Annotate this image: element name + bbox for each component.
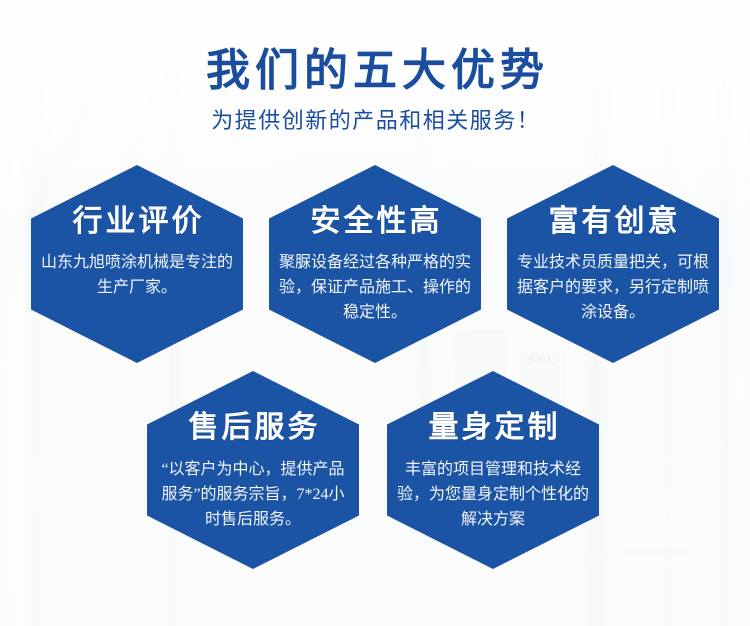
page-title: 我们的五大优势 <box>0 44 750 98</box>
advantage-description: “以客户为中心，提供产品服务”的服务宗旨，7*24小时售后服务。 <box>156 447 350 532</box>
advantage-title: 富有创意 <box>546 165 681 241</box>
advantage-title: 行业评价 <box>70 165 205 241</box>
advantage-hexagon-creative[interactable]: 富有创意 专业技术员质量把关，可根据客户的要求，另行定制喷涂设备。 <box>507 165 719 363</box>
advantage-hexagon-tailor-made[interactable]: 量身定制 丰富的项目管理和技术经验，为您量身定制个性化的解决方案 <box>387 371 599 569</box>
advantage-hexagon-industry-evaluation[interactable]: 行业评价 山东九旭喷涂机械是专注的生产厂家。 <box>31 165 243 363</box>
heading-block: 我们的五大优势 为提供创新的产品和相关服务！ <box>0 44 750 136</box>
advantage-hexagon-high-safety[interactable]: 安全性高 聚脲设备经过各种严格的实验，保证产品施工、操作的稳定性。 <box>269 165 481 363</box>
advantage-description: 山东九旭喷涂机械是专注的生产厂家。 <box>40 241 234 300</box>
advantage-description: 聚脲设备经过各种严格的实验，保证产品施工、操作的稳定性。 <box>278 241 472 325</box>
advantage-title: 量身定制 <box>426 371 561 447</box>
advantages-banner: SKL SKL 我们的五大优势 为提供创新的产品和相关服务！ 行业评价 山东九旭… <box>0 0 750 626</box>
page-subtitle: 为提供创新的产品和相关服务！ <box>0 106 750 136</box>
advantage-title: 售后服务 <box>186 371 321 447</box>
advantage-description: 丰富的项目管理和技术经验，为您量身定制个性化的解决方案 <box>396 447 590 532</box>
advantage-title: 安全性高 <box>308 165 443 241</box>
advantage-hexagon-after-sales-service[interactable]: 售后服务 “以客户为中心，提供产品服务”的服务宗旨，7*24小时售后服务。 <box>147 371 359 569</box>
advantage-description: 专业技术员质量把关，可根据客户的要求，另行定制喷涂设备。 <box>516 241 710 325</box>
